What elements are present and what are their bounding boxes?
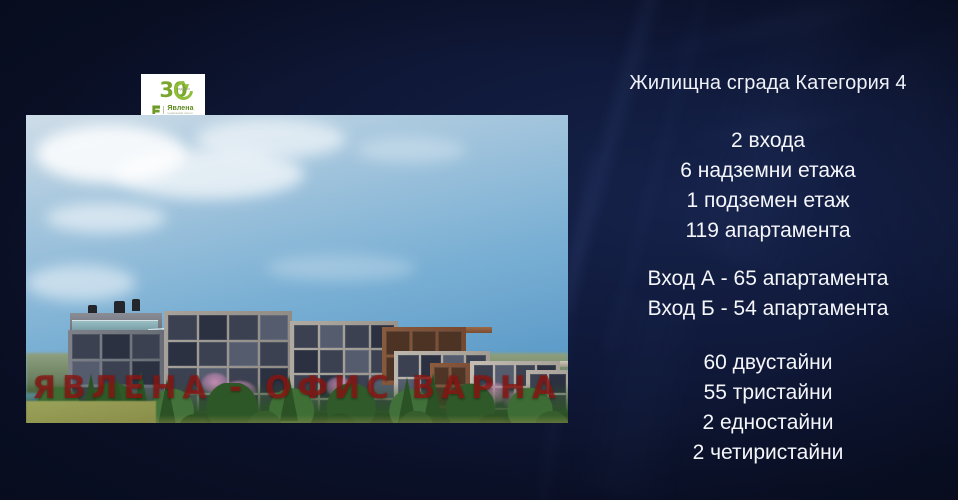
list-item: Вход А - 65 апартамента — [578, 264, 958, 294]
list-item: 2 входа — [578, 126, 958, 156]
list-item: 119 апартамента — [578, 216, 958, 246]
building-photo: ЯВЛЕНА - ОФИС ВАРНА — [26, 115, 568, 423]
photo-watermark: ЯВЛЕНА - ОФИС ВАРНА — [26, 370, 568, 406]
company-logo: 30 години Явлена недвижими имоти — [141, 74, 205, 118]
anniversary-mark: 30 години — [141, 78, 205, 104]
brand-glyph-icon — [152, 105, 160, 114]
list-item: 6 надземни етажа — [578, 156, 958, 186]
presentation-slide: 30 години Явлена недвижими имоти — [0, 0, 958, 500]
entrance-breakdown-list: Вход А - 65 апартамента Вход Б - 54 апар… — [578, 264, 958, 324]
page-title: Жилищна сграда Категория 4 — [578, 70, 958, 96]
list-item: 1 подземен етаж — [578, 186, 958, 216]
building-summary-list: 2 входа 6 надземни етажа 1 подземен етаж… — [578, 126, 958, 246]
list-item: 2 четиристайни — [578, 438, 958, 468]
list-item: 60 двустайни — [578, 348, 958, 378]
anniversary-caption: години — [176, 86, 190, 91]
list-item: 2 едностайни — [578, 408, 958, 438]
brand-lockup: Явлена недвижими имоти — [152, 105, 193, 115]
list-item: 55 тристайни — [578, 378, 958, 408]
apartment-type-list: 60 двустайни 55 тристайни 2 едностайни 2… — [578, 348, 958, 468]
info-panel: Жилищна сграда Категория 4 2 входа 6 над… — [578, 0, 958, 500]
logo-divider — [163, 106, 164, 114]
list-item: Вход Б - 54 апартамента — [578, 294, 958, 324]
